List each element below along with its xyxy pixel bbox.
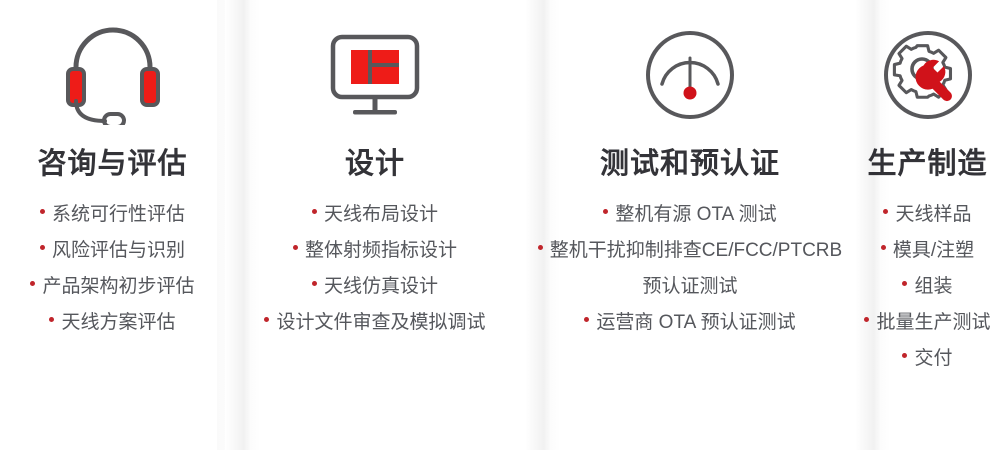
stage-icon-container	[525, 0, 855, 150]
stage-card-design: 设计 天线布局设计 整体射频指标设计 天线仿真设计 设计文件审查及模拟调试	[225, 0, 525, 450]
bullet-dot-icon	[40, 209, 45, 214]
list-item: 整机干扰抑制排查CE/FCC/PTCRB 预认证测试	[525, 233, 855, 305]
list-item: 运营商 OTA 预认证测试	[525, 305, 855, 341]
bullet-dot-icon	[902, 353, 907, 358]
stage-item-list: 天线样品 模具/注塑 组装 批量生产测试 交付	[855, 197, 1000, 377]
list-item: 天线方案评估	[0, 305, 225, 341]
list-item: 交付	[855, 341, 1000, 377]
list-item: 天线仿真设计	[225, 269, 525, 305]
list-item: 产品架构初步评估	[0, 269, 225, 305]
bullet-dot-icon	[902, 281, 907, 286]
list-item: 天线布局设计	[225, 197, 525, 233]
list-item: 批量生产测试	[855, 305, 1000, 341]
process-stages-banner: 咨询与评估 系统可行性评估 风险评估与识别 产品架构初步评估 天线方案评估	[0, 0, 1000, 450]
list-item-label: 天线样品	[895, 204, 971, 225]
list-item: 模具/注塑	[855, 233, 1000, 269]
list-item-label: 整体射频指标设计	[305, 240, 457, 261]
list-item-label: 批量生产测试	[876, 312, 990, 333]
list-item: 整机有源 OTA 测试	[525, 197, 855, 233]
stage-title: 设计	[345, 150, 405, 179]
bullet-dot-icon	[49, 317, 54, 322]
bullet-dot-icon	[30, 281, 35, 286]
stage-icon-container	[855, 0, 1000, 150]
list-item-label: 设计文件审查及模拟调试	[276, 312, 485, 333]
list-item: 整体射频指标设计	[225, 233, 525, 269]
list-item: 设计文件审查及模拟调试	[225, 305, 525, 341]
stage-icon-container	[225, 0, 525, 150]
bullet-dot-icon	[584, 317, 589, 322]
list-item: 组装	[855, 269, 1000, 305]
bullet-dot-icon	[603, 209, 608, 214]
monitor-layout-icon	[325, 29, 425, 121]
list-item-label: 天线仿真设计	[324, 276, 438, 297]
list-item-label: 天线布局设计	[324, 204, 438, 225]
stage-title: 测试和预认证	[600, 150, 780, 179]
list-item-label: 天线方案评估	[61, 312, 175, 333]
bullet-dot-icon	[312, 281, 317, 286]
gauge-icon	[642, 27, 738, 123]
bullet-dot-icon	[883, 209, 888, 214]
bullet-dot-icon	[264, 317, 269, 322]
stage-card-manufacturing: 生产制造 天线样品 模具/注塑 组装 批量生产测试 交付	[855, 0, 1000, 450]
stage-item-list: 天线布局设计 整体射频指标设计 天线仿真设计 设计文件审查及模拟调试	[225, 197, 525, 341]
list-item: 系统可行性评估	[0, 197, 225, 233]
headset-icon	[58, 25, 168, 125]
list-item: 风险评估与识别	[0, 233, 225, 269]
list-item-label: 模具/注塑	[893, 240, 974, 261]
stage-card-consulting: 咨询与评估 系统可行性评估 风险评估与识别 产品架构初步评估 天线方案评估	[0, 0, 225, 450]
bullet-dot-icon	[40, 245, 45, 250]
list-item-label: 产品架构初步评估	[42, 276, 194, 297]
stage-title: 咨询与评估	[37, 150, 187, 179]
list-item-label: 风险评估与识别	[52, 240, 185, 261]
list-item: 天线样品	[855, 197, 1000, 233]
list-item-label: 整机干扰抑制排查CE/FCC/PTCRB 预认证测试	[550, 240, 842, 297]
stage-card-testing: 测试和预认证 整机有源 OTA 测试 整机干扰抑制排查CE/FCC/PTCRB …	[525, 0, 855, 450]
bullet-dot-icon	[293, 245, 298, 250]
list-item-label: 组装	[914, 276, 952, 297]
bullet-dot-icon	[864, 317, 869, 322]
bullet-dot-icon	[538, 245, 543, 250]
stage-item-list: 系统可行性评估 风险评估与识别 产品架构初步评估 天线方案评估	[0, 197, 225, 341]
list-item-label: 系统可行性评估	[52, 204, 185, 225]
list-item-label: 整机有源 OTA 测试	[615, 204, 776, 225]
stage-title: 生产制造	[867, 150, 987, 179]
stage-item-list: 整机有源 OTA 测试 整机干扰抑制排查CE/FCC/PTCRB 预认证测试 运…	[525, 197, 855, 341]
stage-icon-container	[0, 0, 225, 150]
gear-wrench-icon	[880, 27, 976, 123]
list-item-label: 运营商 OTA 预认证测试	[596, 312, 795, 333]
list-item-label: 交付	[914, 348, 952, 369]
bullet-dot-icon	[881, 245, 886, 250]
bullet-dot-icon	[312, 209, 317, 214]
